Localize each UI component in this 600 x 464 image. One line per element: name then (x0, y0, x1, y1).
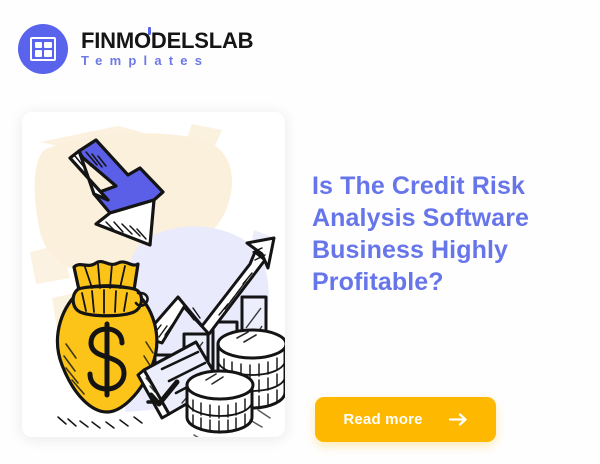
arrow-right-icon (449, 413, 468, 426)
grid-cell (44, 42, 51, 48)
promo-card-page: FINMODELSLAB Templates (0, 0, 600, 464)
read-more-button[interactable]: Read more (315, 397, 496, 442)
coin-stack-short (187, 371, 253, 433)
grid-cell (35, 42, 42, 48)
read-more-label: Read more (343, 411, 422, 428)
brand-wordmark: FINMODELSLAB Templates (81, 30, 253, 68)
illustration-card (22, 112, 285, 437)
logo-circle (18, 24, 68, 74)
power-mark-icon (144, 27, 154, 40)
brand-logo[interactable]: FINMODELSLAB Templates (18, 24, 253, 74)
page-title: Is The Credit Risk Analysis Software Bus… (312, 170, 562, 298)
brand-subtitle: Templates (81, 54, 253, 68)
grid-cell (35, 50, 42, 56)
brand-name: FINMODELSLAB (81, 30, 253, 52)
grid-icon (30, 37, 56, 61)
profit-growth-illustration (22, 112, 285, 437)
grid-cell (44, 50, 51, 56)
